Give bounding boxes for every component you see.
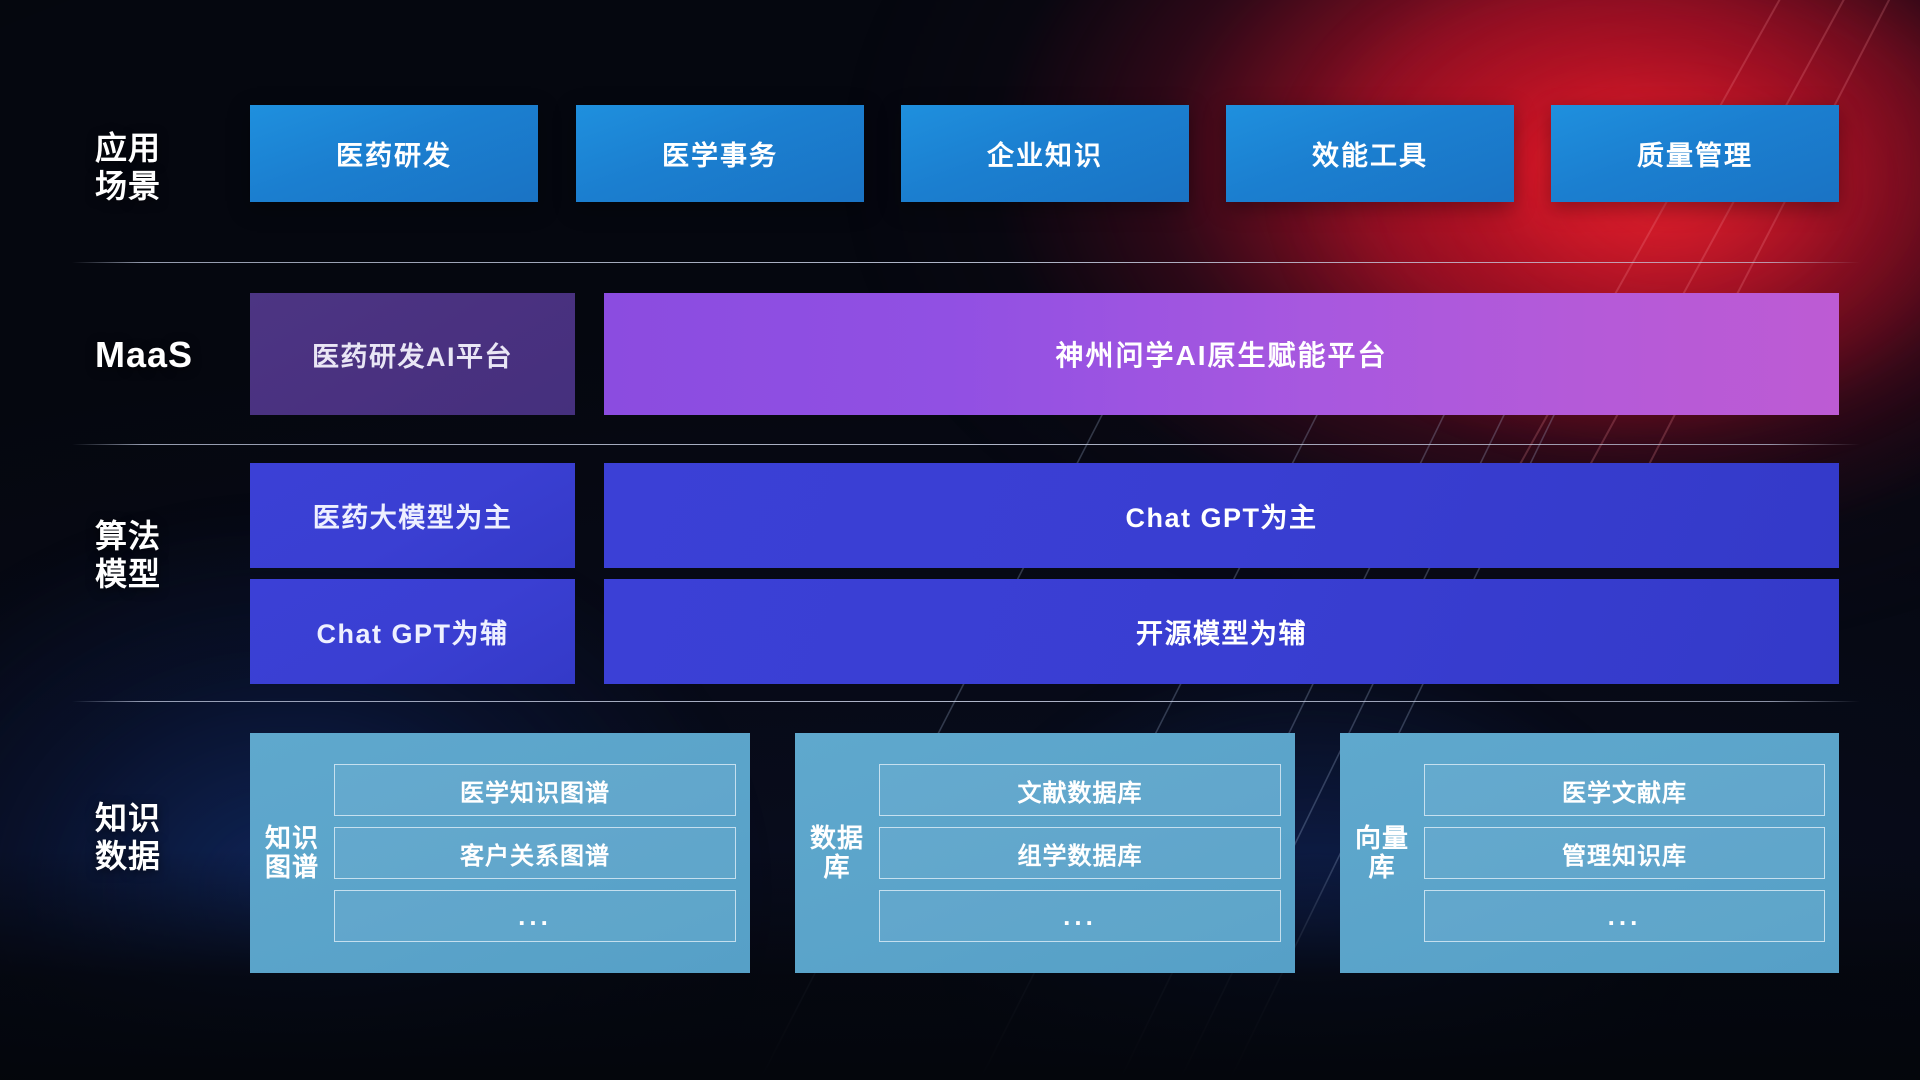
algo-row-2-left-label: Chat GPT为辅 [316, 612, 508, 651]
maas-left-box-label: 医药研发AI平台 [312, 335, 513, 374]
knowledge-group-3-item-2[interactable]: 管理知识库 [1424, 827, 1825, 879]
knowledge-group-2-item-3[interactable]: ... [879, 890, 1281, 942]
scenario-box-1-label: 医药研发 [336, 134, 452, 173]
scenario-box-4[interactable]: 效能工具 [1226, 105, 1514, 202]
tier-label-algorithm-model: 算法 模型 [95, 518, 245, 594]
knowledge-group-2-items: 文献数据库 组学数据库 ... [879, 764, 1281, 942]
scenario-box-1[interactable]: 医药研发 [250, 105, 538, 202]
knowledge-group-2[interactable]: 数据库 文献数据库 组学数据库 ... [795, 733, 1295, 973]
divider-2 [72, 444, 1860, 445]
tier-label-maas: MaaS [95, 334, 275, 376]
scenario-box-5-label: 质量管理 [1637, 134, 1753, 173]
scenario-box-2-label: 医学事务 [662, 134, 778, 173]
maas-left-box[interactable]: 医药研发AI平台 [250, 293, 575, 415]
knowledge-group-1-item-1[interactable]: 医学知识图谱 [334, 764, 736, 816]
knowledge-group-1[interactable]: 知识图谱 医学知识图谱 客户关系图谱 ... [250, 733, 750, 973]
knowledge-group-3[interactable]: 向量库 医学文献库 管理知识库 ... [1340, 733, 1839, 973]
divider-1 [72, 262, 1860, 263]
knowledge-group-1-items: 医学知识图谱 客户关系图谱 ... [334, 764, 736, 942]
algo-row-1-left-label: 医药大模型为主 [313, 496, 513, 535]
maas-right-box-label: 神州问学AI原生赋能平台 [1055, 334, 1387, 374]
tier-label-knowledge-data: 知识 数据 [95, 800, 245, 876]
knowledge-group-1-item-2[interactable]: 客户关系图谱 [334, 827, 736, 879]
knowledge-group-2-vertical-label: 数据库 [795, 824, 879, 882]
scenario-box-3-label: 企业知识 [987, 134, 1103, 173]
knowledge-group-3-item-3[interactable]: ... [1424, 890, 1825, 942]
tier-label-application-scenario: 应用 场景 [95, 130, 245, 206]
algo-row-1-right-box[interactable]: Chat GPT为主 [604, 463, 1839, 568]
algo-row-2-right-label: 开源模型为辅 [1136, 612, 1307, 651]
algo-row-2-left-box[interactable]: Chat GPT为辅 [250, 579, 575, 684]
scenario-box-5[interactable]: 质量管理 [1551, 105, 1839, 202]
algo-row-2-right-box[interactable]: 开源模型为辅 [604, 579, 1839, 684]
scenario-box-4-label: 效能工具 [1312, 134, 1428, 173]
scenario-box-2[interactable]: 医学事务 [576, 105, 864, 202]
knowledge-group-2-item-1[interactable]: 文献数据库 [879, 764, 1281, 816]
scenario-box-3[interactable]: 企业知识 [901, 105, 1189, 202]
maas-right-box[interactable]: 神州问学AI原生赋能平台 [604, 293, 1839, 415]
knowledge-group-3-items: 医学文献库 管理知识库 ... [1424, 764, 1825, 942]
algo-row-1-left-box[interactable]: 医药大模型为主 [250, 463, 575, 568]
diagram-frame: 应用 场景 医药研发 医学事务 企业知识 效能工具 质量管理 MaaS 医药研发… [0, 0, 1920, 1080]
knowledge-group-1-vertical-label: 知识图谱 [250, 824, 334, 882]
algo-row-1-right-label: Chat GPT为主 [1125, 496, 1317, 535]
knowledge-group-2-item-2[interactable]: 组学数据库 [879, 827, 1281, 879]
knowledge-group-1-item-3[interactable]: ... [334, 890, 736, 942]
knowledge-group-3-vertical-label: 向量库 [1340, 824, 1424, 882]
knowledge-group-3-item-1[interactable]: 医学文献库 [1424, 764, 1825, 816]
divider-3 [72, 701, 1860, 702]
